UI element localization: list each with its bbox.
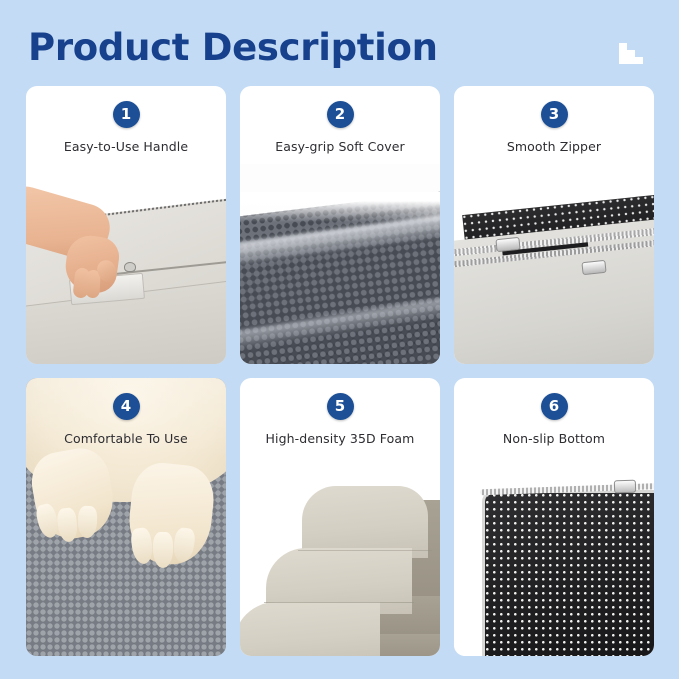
feature-card-grid: 1 Easy-to-Use Handle 2 Easy-grip Soft Co… <box>26 86 654 656</box>
step-badge: 5 <box>327 393 354 420</box>
feature-title: Non-slip Bottom <box>503 431 605 446</box>
feature-card-6[interactable]: 6 Non-slip Bottom <box>454 378 654 656</box>
feature-title: High-density 35D Foam <box>266 431 415 446</box>
page-title: Product Description <box>28 26 438 69</box>
feature-title: Smooth Zipper <box>507 139 601 154</box>
product-description-infographic: Product Description 1 Easy-to-Use H <box>0 0 679 679</box>
feature-label-1: 1 Easy-to-Use Handle <box>26 86 226 162</box>
feature-card-2[interactable]: 2 Easy-grip Soft Cover <box>240 86 440 364</box>
feature-card-3[interactable]: 3 Smooth Zipper <box>454 86 654 364</box>
feature-photo-non-slip-bottom <box>454 456 654 656</box>
feature-card-5[interactable]: 5 High-density 35D Foam <box>240 378 440 656</box>
feature-label-2: 2 Easy-grip Soft Cover <box>240 86 440 162</box>
feature-photo-handle <box>26 164 226 364</box>
stair-step-icon <box>613 41 643 65</box>
header: Product Description <box>0 0 679 85</box>
feature-title: Easy-grip Soft Cover <box>275 139 404 154</box>
feature-photo-soft-cover <box>240 164 440 364</box>
feature-photo-dog-paws <box>26 378 226 656</box>
step-badge: 2 <box>327 101 354 128</box>
step-badge: 1 <box>113 101 140 128</box>
feature-photo-zipper <box>454 164 654 364</box>
feature-photo-foam-stairs <box>240 456 440 656</box>
feature-label-6: 6 Non-slip Bottom <box>454 378 654 454</box>
feature-label-5: 5 High-density 35D Foam <box>240 378 440 454</box>
step-badge: 3 <box>541 101 568 128</box>
step-badge: 6 <box>541 393 568 420</box>
feature-card-4[interactable]: 4 Comfortable To Use <box>26 378 226 656</box>
feature-label-3: 3 Smooth Zipper <box>454 86 654 162</box>
feature-title: Easy-to-Use Handle <box>64 139 188 154</box>
feature-card-1[interactable]: 1 Easy-to-Use Handle <box>26 86 226 364</box>
